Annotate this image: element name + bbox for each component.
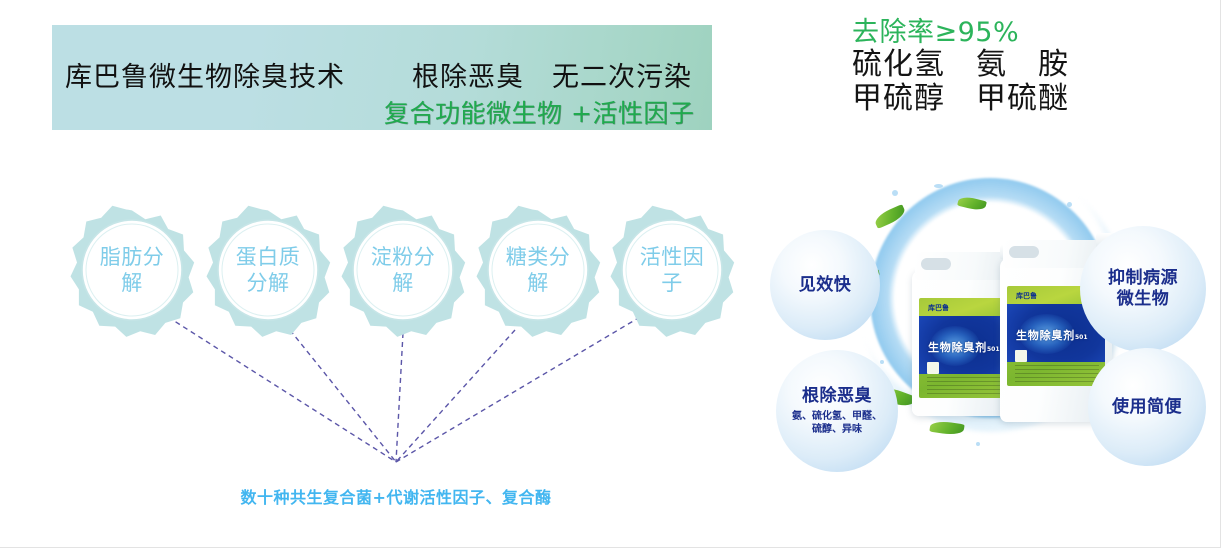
bottle-product-name: 生物除臭剂501 <box>928 339 1000 355</box>
burst-label: 糖类分解 <box>470 202 606 338</box>
burst-label: 脂肪分解 <box>64 202 200 338</box>
target-compounds-line-2: 甲硫醇 甲硫醚 <box>852 82 1192 116</box>
header-banner: 库巴鲁微生物除臭技术 根除恶臭 无二次污染 复合功能微生物 +活性因子 <box>52 25 712 130</box>
bottom-caption: 数十种共生复合菌+代谢活性因子、复合酶 <box>0 484 792 508</box>
burst-fat-decomposition[interactable]: 脂肪分解 <box>64 202 200 338</box>
splash-droplet <box>976 442 980 446</box>
feature-bubble-easy-to-use[interactable]: 使用简便 <box>1088 348 1206 466</box>
feature-bubble-subtitle-line-1: 氨、硫化氢、甲醛、 <box>792 410 882 423</box>
removal-spec-block: 去除率≥95% 硫化氢 氨 胺 甲硫醇 甲硫醚 <box>852 18 1192 116</box>
burst-starch-decomposition[interactable]: 淀粉分解 <box>335 202 471 338</box>
feature-bubble-title: 见效快 <box>799 275 852 296</box>
feature-bubble-title: 使用简便 <box>1112 397 1182 418</box>
bottle-product-name: 生物除臭剂501 <box>1016 327 1088 343</box>
feature-bubble-fast-effect[interactable]: 见效快 <box>770 230 880 340</box>
feature-bubble-title-line-1: 抑制病源 <box>1108 268 1178 289</box>
burst-label: 活性因子 <box>604 202 740 338</box>
label-fineprint <box>927 377 1004 394</box>
bottle-label: 库巴鲁 生物除臭剂501 <box>919 298 1009 398</box>
splash-droplet <box>880 360 884 364</box>
feature-bubble-subtitle-line-2: 硫醇、异味 <box>812 423 862 436</box>
label-badge-icon <box>1015 350 1027 362</box>
slide-canvas: 库巴鲁微生物除臭技术 根除恶臭 无二次污染 复合功能微生物 +活性因子 去除率≥… <box>0 0 1221 548</box>
splash-droplet <box>892 190 898 196</box>
burst-label: 蛋白质分解 <box>200 202 336 338</box>
splash-droplet <box>934 184 943 188</box>
label-fineprint <box>1015 365 1099 382</box>
target-compounds-line-1: 硫化氢 氨 胺 <box>852 48 1192 82</box>
bottle-brand: 库巴鲁 <box>928 303 949 313</box>
feature-bubble-title-line-2: 微生物 <box>1117 289 1170 310</box>
burst-protein-decomposition[interactable]: 蛋白质分解 <box>200 202 336 338</box>
feature-bubble-inhibit-pathogens[interactable]: 抑制病源 微生物 <box>1080 226 1206 352</box>
removal-rate-text: 去除率≥95% <box>852 18 1192 48</box>
bottle-handle <box>1009 246 1039 258</box>
banner-title: 库巴鲁微生物除臭技术 <box>65 55 345 94</box>
banner-claim: 根除恶臭 无二次污染 <box>412 55 692 94</box>
bottle-handle <box>921 258 951 270</box>
label-badge-icon <box>927 362 939 374</box>
bottle-brand: 库巴鲁 <box>1016 291 1037 301</box>
burst-active-factor[interactable]: 活性因子 <box>604 202 740 338</box>
product-showcase: 库巴鲁 生物除臭剂501 库巴鲁 生物除臭剂501 见效快 <box>762 150 1214 495</box>
splash-droplet <box>1067 202 1072 207</box>
burst-label: 淀粉分解 <box>335 202 471 338</box>
banner-subtitle: 复合功能微生物 +活性因子 <box>384 94 694 130</box>
feature-bubble-eradicate-odor[interactable]: 根除恶臭 氨、硫化氢、甲醛、 硫醇、异味 <box>776 350 898 472</box>
feature-bubble-title: 根除恶臭 <box>802 386 872 407</box>
burst-sugar-decomposition[interactable]: 糖类分解 <box>470 202 606 338</box>
